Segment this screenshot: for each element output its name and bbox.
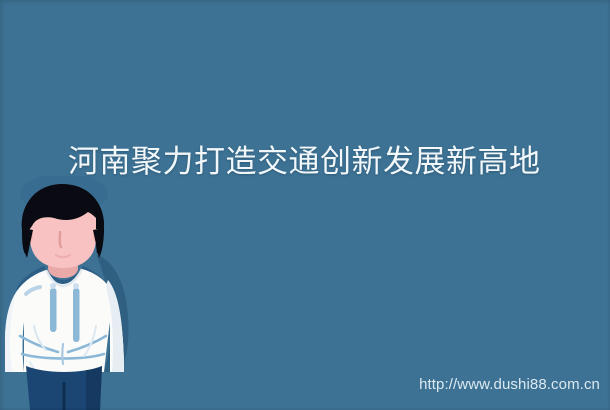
drawstring-right-eyelet xyxy=(73,283,79,289)
page-title: 河南聚力打造交通创新发展新高地 xyxy=(68,142,558,182)
watermark-url: http://www.dushi88.com.cn xyxy=(419,376,600,393)
young-man-illustration-svg xyxy=(0,176,150,410)
pocket-center-fold xyxy=(62,344,63,364)
article-cover-image: 河南聚力打造交通创新发展新高地 http://www.dushi88.com.c… xyxy=(0,0,610,410)
drawstring-left-eyelet xyxy=(50,283,56,289)
illustration-young-man xyxy=(0,176,150,410)
drawstring-right xyxy=(73,288,80,342)
hoodie-body xyxy=(5,269,124,372)
drawstring-left xyxy=(50,288,57,332)
nose xyxy=(60,232,61,247)
pants-shadow-right xyxy=(86,366,102,410)
